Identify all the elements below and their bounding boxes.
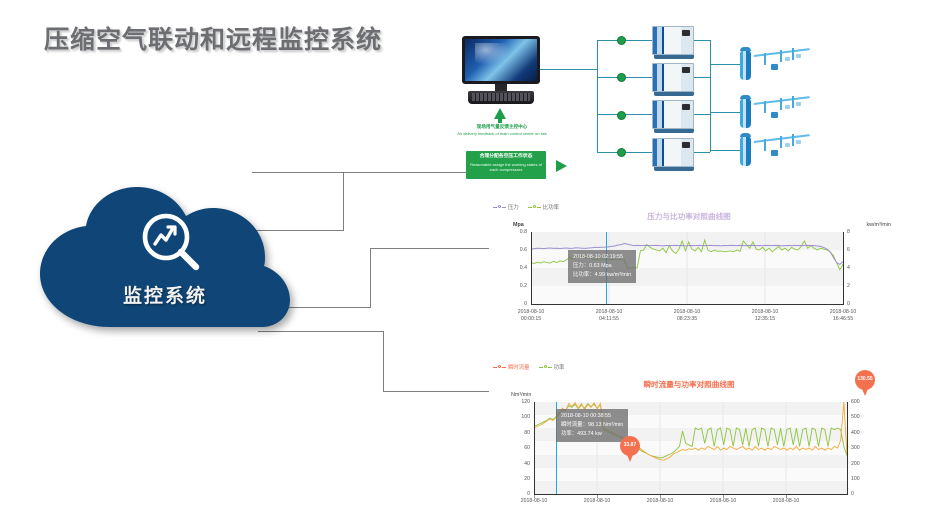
chart2-ytick: 100 [512,414,530,420]
chart2-yaxis-right [847,402,848,495]
chart1-yaxis-left [531,232,532,305]
chart2-ytick-right: 100 [851,476,869,482]
wire-monitor-to-bus [540,69,597,70]
chart1-ytick-right: 6 [847,247,865,253]
distribution-pipe [754,48,810,57]
chart2-ytick: 80 [512,430,530,436]
chart2-yaxis-left [534,402,535,495]
air-tank-cap [740,95,751,99]
green-box-label-cn: 合理分配各空压工作状态 [466,154,546,161]
keyboard-keys [472,93,530,101]
chart1-ytick: 0.4 [509,265,527,271]
pipe-dropline [764,139,766,151]
compressor-base [654,167,694,171]
legend-label: 压力 [508,203,519,211]
monitoring-system-cloud[interactable]: 监控系统 [38,186,292,328]
chart2-xtick: 2018-08-10 [574,498,620,505]
monitor-screen [462,36,540,84]
tank-group-2 [740,94,812,134]
green-box-label-en: Reasonable assign the working states of … [466,162,546,173]
wire-out-1 [694,40,710,41]
chart2-ytick-right: 300 [851,445,869,451]
legend-item-specific-power[interactable]: 比功率 [528,203,559,211]
compressor-3 [652,100,694,133]
pneumatic-tool [785,143,790,147]
legend-marker-icon [528,205,541,210]
compressor-panel [682,30,690,36]
schematic-caption-en: Air delivery feedback of main control ce… [452,131,552,136]
schematic-caption-cn: 现场用气量反馈主控中心 [452,124,552,130]
compressor-base [654,55,694,59]
pneumatic-tool [796,102,801,106]
wire-out-3 [694,114,710,115]
status-node-2 [617,73,626,82]
chart2-ytick: 120 [512,399,530,405]
legend-label: 功率 [554,363,565,371]
tank-group-1 [740,46,812,86]
chart2-xtick: 2018-08-10 [700,498,746,505]
chart2-title: 瞬时流量与功率对照曲线图 [489,379,889,390]
chart2-ytick-right: 500 [851,414,869,420]
compressor-panel [682,67,690,73]
chart1-yaxis-unit-right: kw/m³/min [866,222,891,228]
chart1-ytick-right: 0 [847,301,865,307]
chart1-xtick: 2018-08-10 16:46:55 [820,309,866,323]
chart1-ytick-right: 4 [847,265,865,271]
chart2-ytick: 40 [512,461,530,467]
wire-out-2 [694,77,710,78]
chart2-ytick: 60 [512,445,530,451]
connector-line-top [252,172,344,173]
marker-label: 130.55 [855,376,875,382]
legend-label: 瞬时流量 [508,363,530,371]
right-arrow-icon [556,160,567,172]
compressor-4 [652,138,694,171]
chart1-yaxis-unit-left: Mpa [513,222,524,228]
legend-item-power[interactable]: 功率 [539,363,565,371]
chart1-xtick: 2018-08-10 08:23:35 [664,309,710,323]
chart2-ytick-right: 0 [851,491,869,497]
wire-right-bus [710,40,711,152]
legend-marker-icon [493,365,506,370]
chart1-xtick: 2018-08-10 00:00:15 [508,309,554,323]
chart2-ytick: 20 [512,476,530,482]
pipe-dropline [792,134,794,146]
chart1-xtick: 2018-08-10 04:11:55 [586,309,632,323]
wire-out-4 [694,152,710,153]
magnifier-chart-icon [141,212,203,274]
marker-label: 33.87 [620,442,640,448]
connector-b-horizontal-right [370,248,489,249]
status-node-4 [617,148,626,157]
wire-left-bus [597,40,598,152]
wire-to-tank-3 [710,150,742,151]
pipe-dropline [792,96,794,108]
chart2-xtick: 2018-08-10 [763,498,809,505]
pneumatic-tool [771,64,778,70]
green-status-box: 合理分配各空压工作状态 Reasonable assign the workin… [466,151,546,179]
status-node-1 [617,36,626,45]
pipe-dropline [764,53,766,65]
chart1-ytick: 0.6 [509,247,527,253]
tooltip-time: 2018-08-10 00:38:55 [561,412,623,421]
chart2-xtick: 2018-08-10 [637,498,683,505]
pneumatic-tool [796,140,801,144]
cloud-label: 监控系统 [38,281,292,308]
system-schematic-diagram: 现场用气量反馈主控中心 Air delivery feedback of mai… [452,24,942,204]
monitor-illustration [462,36,540,106]
chart2-xaxis [534,494,848,495]
legend-marker-icon [493,205,506,210]
legend-marker-icon [539,365,552,370]
pipe-dropline [780,136,782,148]
wire-to-tank-1 [710,64,742,65]
connector-c-horizontal-left [258,331,384,332]
tooltip-row-pressure: 压力：0.63 Mpa [573,262,631,271]
chart1-tooltip: 2018-08-10 02:19:55 压力：0.63 Mpa 比功率：4.99… [568,250,636,283]
chart2-yaxis-unit-left: Nm³/min [511,392,531,398]
chart1-ytick: 0.2 [509,283,527,289]
pipe-dropline [792,48,794,60]
pneumatic-tool [785,105,790,109]
chart1-yaxis-right [843,232,844,305]
legend-label: 比功率 [543,203,559,211]
chart1-xtick: 2018-08-10 12:35:15 [742,309,788,323]
connector-c-vertical [383,331,384,392]
tooltip-row-power: 功率：493.74 kw [561,430,623,439]
wire-to-tank-2 [710,112,742,113]
pneumatic-tool [771,112,778,118]
chart2-ytick-right: 600 [851,399,869,405]
chart2-legend: 瞬时流量 功率 [493,363,564,371]
chart2-tooltip: 2018-08-10 00:38:55 瞬时流量：98.13 Nm³/min 功… [556,409,628,442]
chart1-ytick: 0 [509,301,527,307]
distribution-pipe [754,134,810,143]
chart2-ytick-right: 400 [851,430,869,436]
pipe-dropline [764,101,766,113]
connector-b-vertical [370,248,371,307]
status-node-3 [617,111,626,120]
pneumatic-tool [771,150,778,156]
tree-trunk-icon [498,118,502,123]
compressor-panel [682,142,690,148]
air-tank-cap [740,133,751,137]
chart1-ytick: 0.8 [509,229,527,235]
chart1-xaxis [531,304,844,305]
chart2-marker-min[interactable]: 33.87 [620,436,640,462]
air-tank [740,98,751,128]
air-tank-cap [740,47,751,51]
page-title: 压缩空气联动和远程监控系统 [44,20,382,56]
air-tank [740,136,751,166]
chart1-ytick-right: 8 [847,229,865,235]
distribution-pipe [754,96,810,105]
pipe-dropline [780,50,782,62]
compressor-2 [652,63,694,96]
tooltip-time: 2018-08-10 02:19:55 [573,253,631,262]
chart1-title: 压力与比功率对照曲线图 [489,211,889,222]
compressor-base [654,129,694,133]
air-tank [740,50,751,80]
tank-group-3 [740,132,812,172]
chart2-ytick-right: 200 [851,461,869,467]
compressor-base [654,92,694,96]
slide-canvas: 压缩空气联动和远程监控系统 监控系统 [0,0,945,529]
chart2-ytick: 0 [512,491,530,497]
compressor-1 [652,26,694,59]
connector-a-vertical [343,172,344,230]
pipe-dropline [780,98,782,110]
tooltip-row-flow: 瞬时流量：98.13 Nm³/min [561,421,623,430]
compressor-panel [682,104,690,110]
pneumatic-tool [785,57,790,61]
legend-item-flow[interactable]: 瞬时流量 [493,363,530,371]
monitor-neck [495,84,507,91]
legend-item-pressure[interactable]: 压力 [493,203,519,211]
connector-c-horizontal-right [383,391,489,392]
tooltip-row-specific-power: 比功率：4.99 kw/m³/min [573,271,631,280]
chart2-xtick: 2018-08-10 [511,498,557,505]
monitor-screen-glow [475,43,511,66]
chart1-legend: 压力 比功率 [493,203,559,211]
chart1-ytick-right: 2 [847,283,865,289]
chart-pressure-vs-specific-power: 压力 比功率 压力与比功率对照曲线图 Mpa kw/m³/min [489,203,889,333]
chart2-marker-max[interactable]: 130.55 [855,370,875,396]
chart-flow-vs-power: 瞬时流量 功率 瞬时流量与功率对照曲线图 Nm³/min [489,363,889,529]
pneumatic-tool [796,54,801,58]
